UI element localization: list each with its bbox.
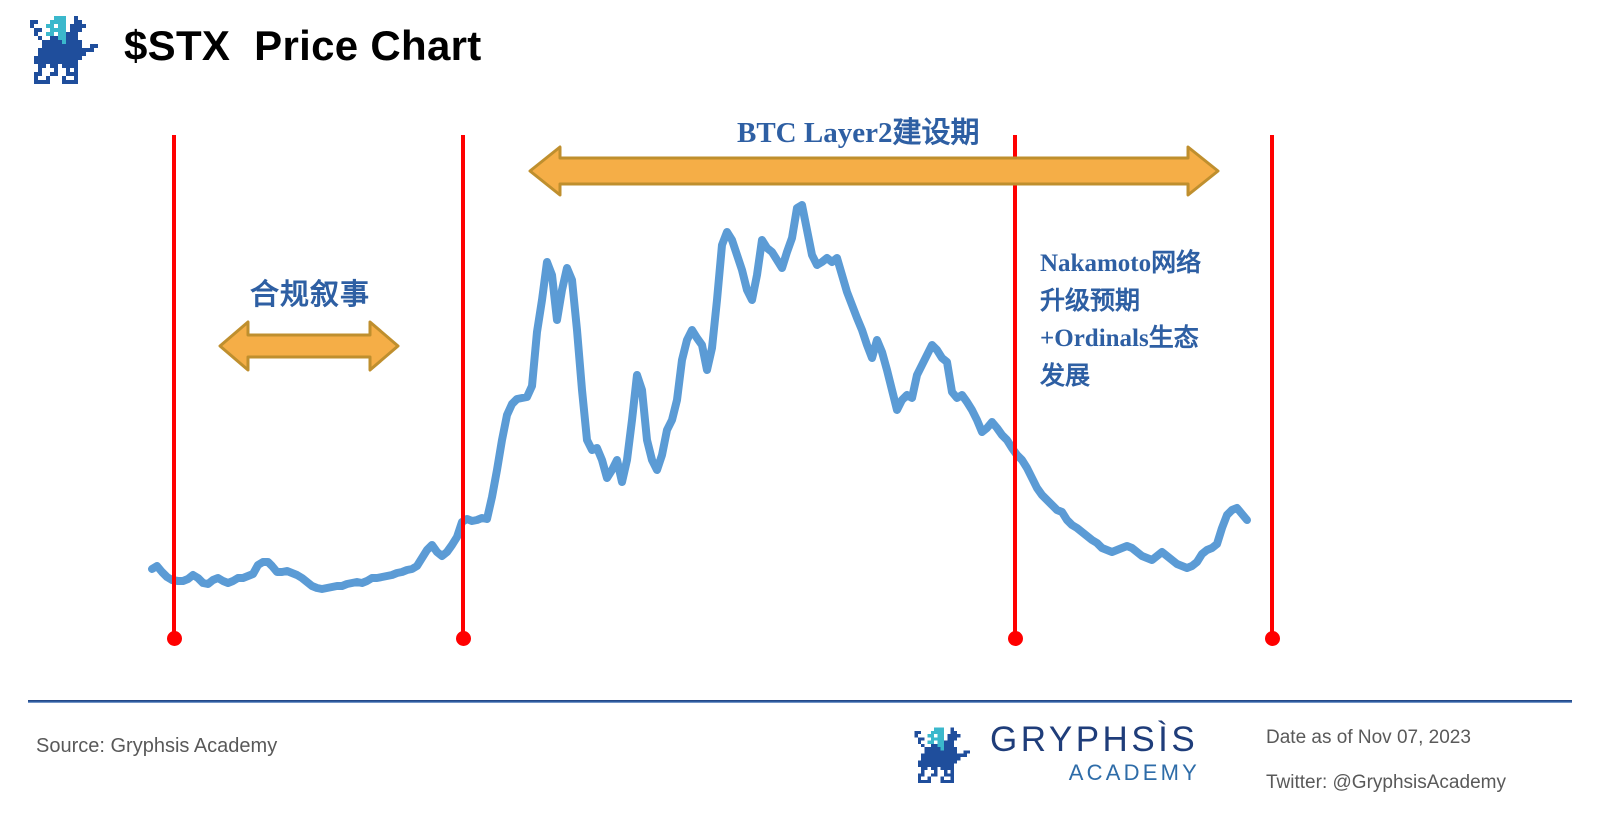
event-marker-4 bbox=[1270, 135, 1274, 781]
event-marker-dot bbox=[456, 631, 471, 646]
event-marker-line bbox=[1013, 135, 1017, 638]
event-marker-dot bbox=[1008, 631, 1023, 646]
event-marker-line bbox=[172, 135, 176, 638]
footer-brand-logo: GRYPHSÌS ACADEMY bbox=[908, 720, 1198, 798]
btc-layer2-phase-arrow-icon bbox=[528, 143, 1220, 199]
event-marker-1 bbox=[172, 135, 176, 781]
footer-brand-name: GRYPHSÌS bbox=[990, 722, 1200, 757]
event-marker-dot bbox=[1265, 631, 1280, 646]
event-marker-line bbox=[461, 135, 465, 638]
event-marker-dot bbox=[167, 631, 182, 646]
footer-brand-text: GRYPHSÌS ACADEMY bbox=[990, 722, 1200, 784]
footer-brand-subtitle: ACADEMY bbox=[990, 762, 1200, 784]
event-marker-line bbox=[1270, 135, 1274, 638]
event-marker-3 bbox=[1013, 135, 1017, 781]
price-chart-plot: 合规叙事 BTC Layer2建设期 Nakamoto网络升级预期+Ordina… bbox=[0, 0, 1600, 700]
footer-twitter-handle: Twitter: @GryphsisAcademy bbox=[1266, 772, 1506, 794]
footer-source-text: Source: Gryphsis Academy bbox=[36, 735, 277, 758]
event-marker-2 bbox=[461, 135, 465, 781]
annotation-nakamoto-label: Nakamoto网络升级预期+Ordinals生态发展 bbox=[1040, 245, 1218, 395]
annotation-compliance-label: 合规叙事 bbox=[250, 277, 370, 313]
compliance-phase-arrow-icon bbox=[218, 316, 400, 376]
footer-divider bbox=[28, 700, 1572, 703]
footer-date-text: Date as of Nov 07, 2023 bbox=[1266, 727, 1471, 749]
gryphsis-griffin-icon bbox=[908, 724, 980, 790]
